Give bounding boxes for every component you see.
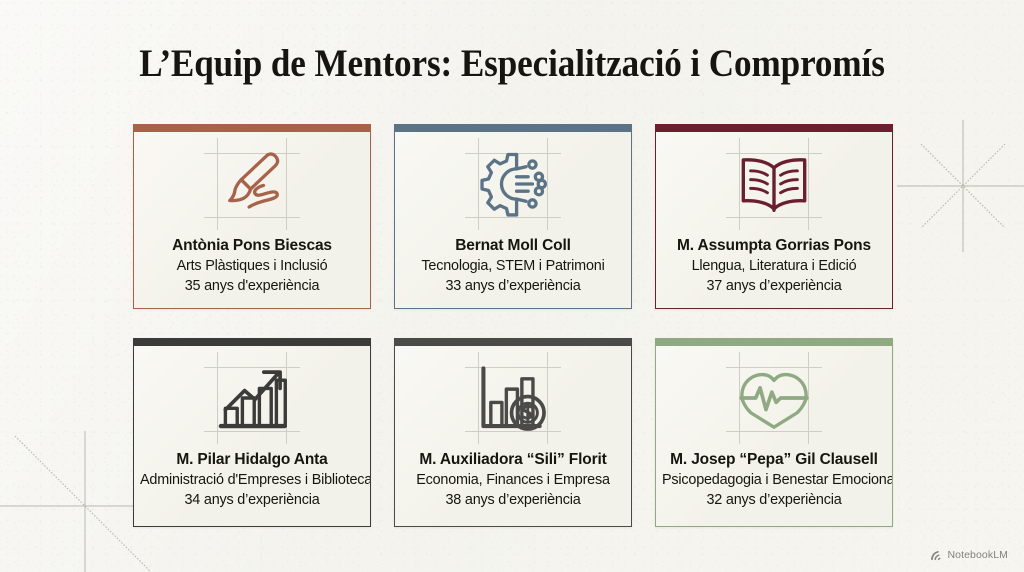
- card-icon-area: [134, 132, 370, 236]
- page-title: L’Equip de Mentors: Especialització i Co…: [51, 41, 973, 87]
- card-accent-bar: [656, 338, 892, 346]
- mentor-years: 32 anys d’experiència: [662, 491, 886, 510]
- crosshair-top-right-decoration: [898, 121, 1024, 251]
- mentor-card[interactable]: M. Assumpta Gorrias Pons Llengua, Litera…: [655, 124, 893, 309]
- card-icon-area: [134, 346, 370, 450]
- mentor-years: 35 anys d'experiència: [140, 277, 364, 296]
- card-text-block: Antònia Pons Biescas Arts Plàstiques i I…: [134, 236, 370, 306]
- mentor-field: Llengua, Literatura i Edició: [662, 257, 886, 276]
- card-accent-bar: [134, 124, 370, 132]
- mentor-field: Arts Plàstiques i Inclusió: [140, 257, 364, 276]
- mentor-name: M. Pilar Hidalgo Anta: [140, 450, 364, 470]
- open-book-icon: [736, 153, 812, 215]
- mentor-name: Bernat Moll Coll: [401, 236, 625, 256]
- mentor-name: M. Auxiliadora “Sili” Florit: [401, 450, 625, 470]
- mentor-field: Economia, Finances i Empresa: [401, 471, 625, 490]
- mentor-card[interactable]: Antònia Pons Biescas Arts Plàstiques i I…: [133, 124, 371, 309]
- notebooklm-watermark: NotebookLM: [930, 549, 1008, 561]
- mentor-years: 34 anys d’experiència: [140, 491, 364, 510]
- card-icon-area: [656, 132, 892, 236]
- notebooklm-watermark-label: NotebookLM: [947, 549, 1008, 561]
- mentor-card[interactable]: M. Josep “Pepa” Gil Clausell Psicopedago…: [655, 338, 893, 527]
- mentor-years: 33 anys d’experiència: [401, 277, 625, 296]
- mentor-years: 38 anys d’experiència: [401, 491, 625, 510]
- card-accent-bar: [656, 124, 892, 132]
- card-text-block: Bernat Moll Coll Tecnologia, STEM i Patr…: [395, 236, 631, 306]
- card-accent-bar: [395, 338, 631, 346]
- card-icon-area: [656, 346, 892, 450]
- card-accent-bar: [395, 124, 631, 132]
- mentor-card[interactable]: M. Auxiliadora “Sili” Florit Economia, F…: [394, 338, 632, 527]
- mentor-field: Administració d'Empreses i Biblioteca: [140, 471, 364, 490]
- crosshair-bottom-left-decoration: [20, 441, 150, 571]
- mentor-card-grid: Antònia Pons Biescas Arts Plàstiques i I…: [133, 124, 891, 527]
- mentor-years: 37 anys d’experiència: [662, 277, 886, 296]
- mentor-card[interactable]: M. Pilar Hidalgo Anta Administració d'Em…: [133, 338, 371, 527]
- card-text-block: M. Josep “Pepa” Gil Clausell Psicopedago…: [656, 450, 892, 520]
- card-text-block: M. Auxiliadora “Sili” Florit Economia, F…: [395, 450, 631, 520]
- bar-chart-growth-icon: [215, 364, 289, 432]
- heart-pulse-icon: [736, 364, 812, 432]
- card-accent-bar: [134, 338, 370, 346]
- mentor-name: M. Assumpta Gorrias Pons: [662, 236, 886, 256]
- mentor-name: M. Josep “Pepa” Gil Clausell: [662, 450, 886, 470]
- gear-circuit-icon: [477, 149, 549, 219]
- card-text-block: M. Assumpta Gorrias Pons Llengua, Litera…: [656, 236, 892, 306]
- bar-chart-coin-icon: [476, 364, 550, 432]
- card-icon-area: [395, 346, 631, 450]
- mentor-field: Psicopedagogia i Benestar Emocional: [662, 471, 886, 490]
- mentor-field: Tecnologia, STEM i Patrimoni: [401, 257, 625, 276]
- card-icon-area: [395, 132, 631, 236]
- card-text-block: M. Pilar Hidalgo Anta Administració d'Em…: [134, 450, 370, 520]
- notebooklm-logo-icon: [930, 550, 942, 561]
- paintbrush-icon: [216, 151, 288, 217]
- mentor-card[interactable]: Bernat Moll Coll Tecnologia, STEM i Patr…: [394, 124, 632, 309]
- mentor-name: Antònia Pons Biescas: [140, 236, 364, 256]
